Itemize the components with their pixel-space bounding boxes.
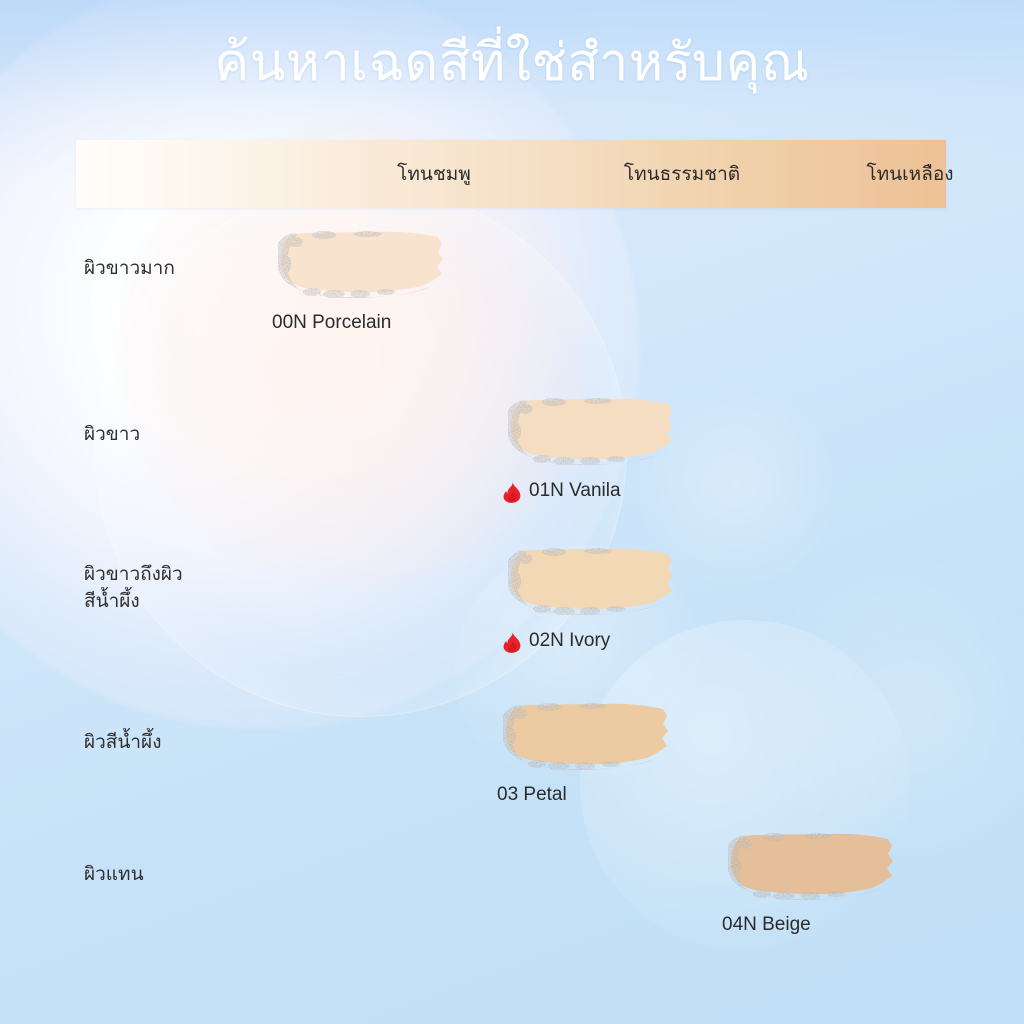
fire-icon: [502, 480, 522, 503]
row-label-tan: ผิวแทน: [84, 862, 264, 889]
shade-swatch-00n-porcelain: [272, 228, 462, 300]
row-label-line1: ผิวขาวมาก: [84, 258, 175, 279]
shade-entry-00n-porcelain[interactable]: 00N Porcelain: [272, 228, 462, 334]
row-label-fair: ผิวขาว: [84, 422, 264, 449]
shade-entry-03-petal[interactable]: 03 Petal: [497, 700, 687, 806]
shade-label-01n-vanila: 01N Vanila: [502, 479, 692, 502]
row-label-honey: ผิวสีน้ำผึ้ง: [84, 730, 264, 757]
tone-header-bar: โทนชมพู โทนธรรมชาติ โทนเหลือง: [76, 140, 946, 208]
shade-swatch-02n-ivory: [502, 545, 692, 617]
shade-entry-04n-beige[interactable]: 04N Beige: [722, 830, 912, 936]
shade-label-00n-porcelain: 00N Porcelain: [272, 312, 462, 334]
shade-label-03-petal: 03 Petal: [497, 784, 687, 806]
powder-swatch-shape: [502, 545, 692, 617]
powder-swatch-shape: [722, 830, 912, 902]
row-label-line1: ผิวสีน้ำผึ้ง: [84, 732, 161, 753]
shade-entry-01n-vanila[interactable]: 01N Vanila: [502, 395, 692, 502]
shade-label-04n-beige: 04N Beige: [722, 914, 912, 936]
tone-column-header-yellow: โทนเหลือง: [798, 140, 1022, 208]
powder-swatch-shape: [502, 395, 692, 467]
tone-column-header-natural: โทนธรรมชาติ: [570, 140, 794, 208]
shade-name: 01N Vanila: [529, 480, 621, 502]
shade-finder-chart: ค้นหาเฉดสีที่ใช่สำหรับคุณ โทนชมพู โทนธรร…: [0, 0, 1024, 1024]
shade-name: 02N Ivory: [529, 630, 610, 652]
shade-swatch-03-petal: [497, 700, 687, 772]
tone-column-header-pink: โทนชมพู: [322, 140, 546, 208]
shade-name: 04N Beige: [722, 914, 811, 936]
fire-icon: [502, 630, 522, 653]
row-label-line1: ผิวขาวถึงผิว: [84, 562, 264, 589]
powder-swatch-shape: [272, 228, 462, 300]
row-label-line2: สีน้ำผึ้ง: [84, 589, 264, 616]
row-label-fair-to-honey: ผิวขาวถึงผิว สีน้ำผึ้ง: [84, 562, 264, 616]
shade-name: 03 Petal: [497, 784, 567, 806]
shade-swatch-01n-vanila: [502, 395, 692, 467]
row-label-line1: ผิวขาว: [84, 424, 140, 445]
shade-entry-02n-ivory[interactable]: 02N Ivory: [502, 545, 692, 652]
shade-label-02n-ivory: 02N Ivory: [502, 629, 692, 652]
row-label-very-fair: ผิวขาวมาก: [84, 256, 264, 283]
page-title: ค้นหาเฉดสีที่ใช่สำหรับคุณ: [0, 34, 1024, 94]
row-label-line1: ผิวแทน: [84, 864, 144, 885]
shade-name: 00N Porcelain: [272, 312, 391, 334]
shade-swatch-04n-beige: [722, 830, 912, 902]
powder-swatch-shape: [497, 700, 687, 772]
